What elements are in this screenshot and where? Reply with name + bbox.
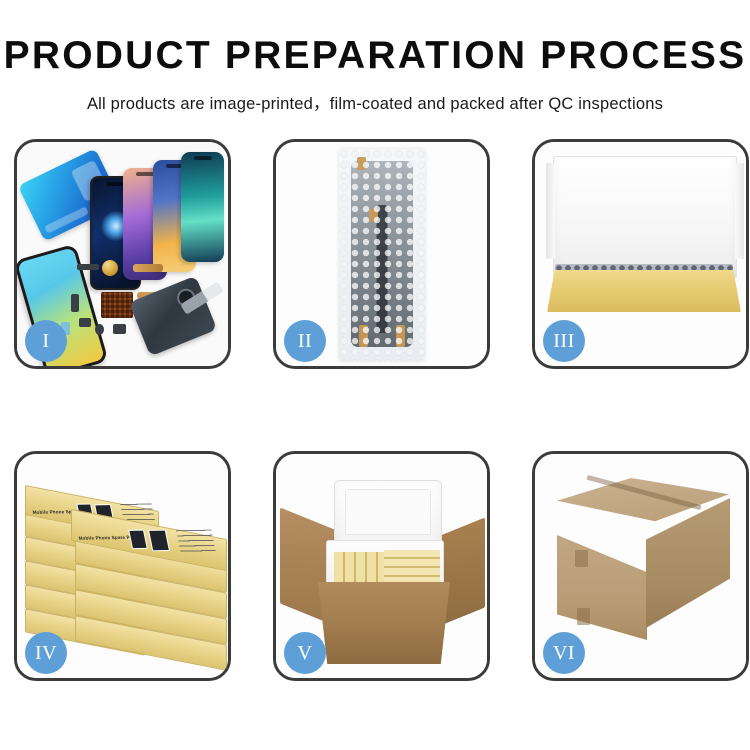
bubble-texture-overlay: [339, 149, 425, 361]
process-steps-grid: I II I: [14, 139, 747, 681]
step-badge-1: I: [25, 320, 67, 362]
small-part-icon-3: [95, 324, 104, 335]
flex-cable-icon-1: [133, 264, 163, 272]
page-title: PRODUCT PREPARATION PROCESS: [0, 36, 750, 75]
box-phone-image-icon: [128, 530, 148, 550]
process-step-panel-2: II: [273, 139, 490, 369]
product-preparation-infographic: PRODUCT PREPARATION PROCESS All products…: [0, 0, 750, 750]
carton-front-face-icon: [557, 512, 647, 640]
process-step-panel-6: VI: [532, 451, 749, 681]
speaker-part-icon: [102, 260, 118, 276]
yellow-box-base-icon: [547, 270, 741, 312]
circuit-board-icon: [101, 292, 133, 318]
white-box-lid-icon: [553, 156, 737, 278]
carton-body-icon: [318, 582, 450, 664]
carton-tape-icon-2: [577, 608, 590, 625]
box-spec-lines: [176, 530, 216, 553]
step-badge-5: V: [284, 632, 326, 674]
process-step-panel-3: III: [532, 139, 749, 369]
notch-icon: [136, 172, 154, 176]
small-part-icon-4: [113, 324, 126, 334]
step-badge-3: III: [543, 320, 585, 362]
notch-icon: [107, 182, 125, 186]
process-step-panel-1: I: [14, 139, 231, 369]
process-step-panel-5: V: [273, 451, 490, 681]
notch-icon: [194, 156, 212, 160]
small-part-icon-2: [79, 318, 91, 327]
page-subtitle: All products are image-printed，film-coat…: [0, 90, 750, 114]
step-badge-6: VI: [543, 632, 585, 674]
phone-chassis-icon: [129, 276, 217, 357]
foam-lid-icon: [334, 480, 442, 548]
header: PRODUCT PREPARATION PROCESS All products…: [0, 0, 750, 114]
small-part-icon-5: [71, 294, 79, 312]
step-badge-4: IV: [25, 632, 67, 674]
phone-screen-icon-4: [181, 152, 224, 262]
carton-tape-icon-1: [575, 550, 588, 567]
box-phone-image-icon: [148, 530, 170, 552]
bubble-wrap-bag-icon: [339, 149, 425, 361]
step-badge-2: II: [284, 320, 326, 362]
process-step-panel-4: Mobile Phone Spare Parts Mobile Phone Sp…: [14, 451, 231, 681]
small-part-icon-1: [77, 264, 99, 270]
